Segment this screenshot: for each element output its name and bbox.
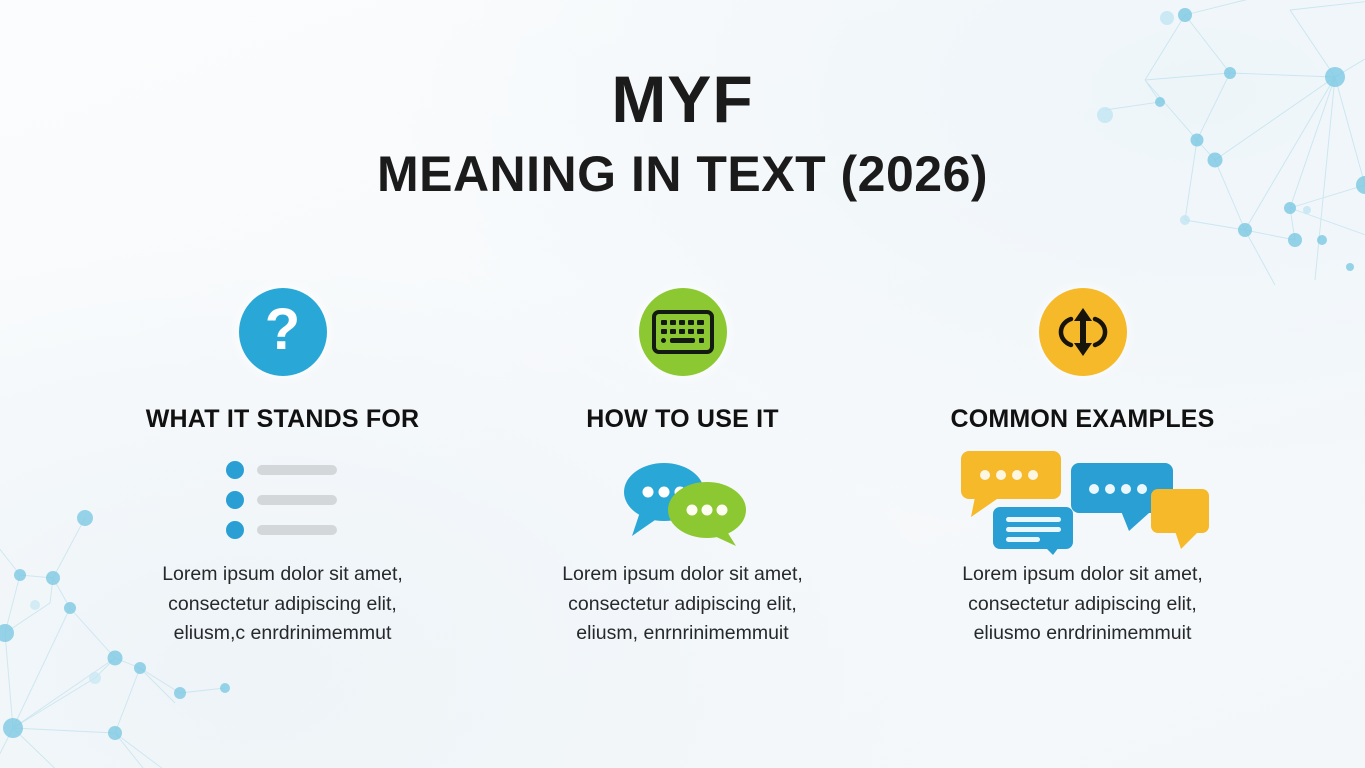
body-line: eliusm, enrnrinimemmuit xyxy=(562,619,803,649)
body-line: eliusmo enrdrinimemmuit xyxy=(962,619,1203,649)
title-block: MYF MEANING IN TEXT (2026) xyxy=(0,66,1365,202)
blue-chat-bubble-lines xyxy=(993,507,1073,555)
column-body-how-to-use-it: Lorem ipsum dolor sit amet, consectetur … xyxy=(562,560,803,649)
bidirectional-arrow-glyph xyxy=(1054,305,1112,359)
body-line: consectetur adipiscing elit, xyxy=(562,590,803,620)
body-line: Lorem ipsum dolor sit amet, xyxy=(562,560,803,590)
bullet-list-graphic xyxy=(223,450,343,550)
body-line: consectetur adipiscing elit, xyxy=(162,590,403,620)
bidirectional-arrow-icon xyxy=(1039,288,1127,376)
column-what-it-stands-for: ? WHAT IT STANDS FOR Lorem ipsum dolor s xyxy=(83,288,483,649)
column-heading-what-it-stands-for: WHAT IT STANDS FOR xyxy=(146,405,419,434)
question-mark-icon: ? xyxy=(239,288,327,376)
yellow-chat-bubble-plain xyxy=(1151,489,1209,549)
page-title: MYF xyxy=(0,66,1365,133)
body-line: consectetur adipiscing elit, xyxy=(962,590,1203,620)
keyboard-icon xyxy=(639,288,727,376)
slide-canvas: MYF MEANING IN TEXT (2026) ? WHAT IT STA… xyxy=(0,0,1365,768)
column-how-to-use-it: HOW TO USE IT xyxy=(483,288,883,649)
column-common-examples: COMMON EXAMPLES xyxy=(883,288,1283,649)
page-subtitle: MEANING IN TEXT (2026) xyxy=(0,147,1365,202)
chat-bubble-cluster-graphic xyxy=(953,450,1213,550)
body-line: Lorem ipsum dolor sit amet, xyxy=(162,560,403,590)
question-mark-glyph: ? xyxy=(265,301,300,359)
speech-bubble-pair-graphic xyxy=(608,450,758,550)
column-heading-how-to-use-it: HOW TO USE IT xyxy=(586,405,778,434)
column-heading-common-examples: COMMON EXAMPLES xyxy=(950,405,1214,434)
column-body-what-it-stands-for: Lorem ipsum dolor sit amet, consectetur … xyxy=(162,560,403,649)
columns-container: ? WHAT IT STANDS FOR Lorem ipsum dolor s xyxy=(0,288,1365,649)
green-speech-bubble xyxy=(668,482,746,546)
keyboard-glyph xyxy=(652,310,714,354)
body-line: eliusm,c enrdrinimemmut xyxy=(162,619,403,649)
column-body-common-examples: Lorem ipsum dolor sit amet, consectetur … xyxy=(962,560,1203,649)
body-line: Lorem ipsum dolor sit amet, xyxy=(962,560,1203,590)
